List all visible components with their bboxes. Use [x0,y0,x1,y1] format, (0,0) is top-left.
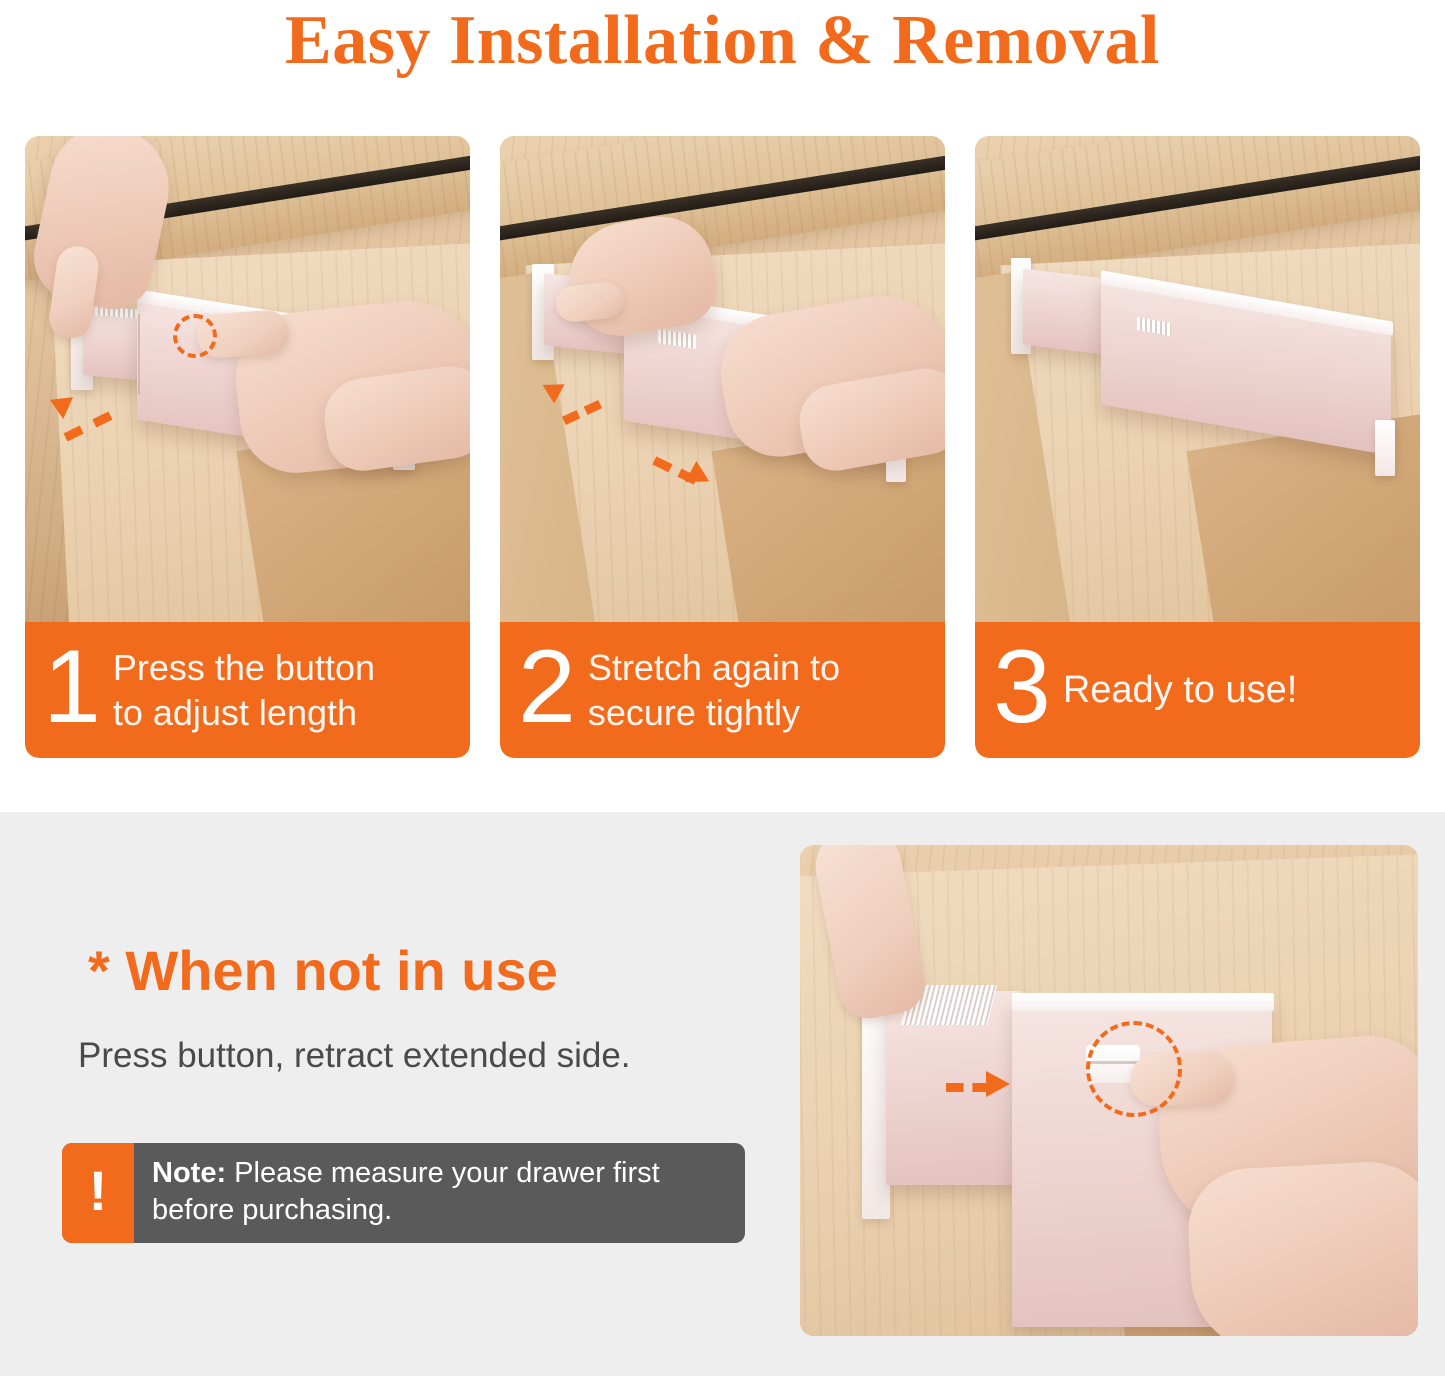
page-title: Easy Installation & Removal [0,2,1445,80]
step-label-1: Press the button to adjust length [113,645,375,735]
dashed-circle-button-highlight [173,314,217,358]
step-card-3: 3 Ready to use! [975,136,1420,758]
retract-photo [800,845,1418,1336]
step-caption-1: 1 Press the button to adjust length [25,622,470,758]
step-photo-2 [500,136,945,622]
note-label: Note: [152,1157,226,1189]
step-card-2: 2 Stretch again to secure tightly [500,136,945,758]
step-number-2: 2 [518,635,574,739]
pink-divider-3 [975,136,1420,622]
steps-row: 1 Press the button to adjust length [25,136,1421,758]
step-label-2-line2: secure tightly [588,692,800,733]
step-photo-3 [975,136,1420,622]
step-number-3: 3 [993,635,1049,739]
divider-inner-rail [1023,268,1113,355]
exclamation-icon: ! [62,1143,134,1243]
dashed-arrow-right-line [946,1083,990,1092]
top-section: Easy Installation & Removal [0,0,1445,812]
divider-seam [138,314,140,394]
when-not-in-use-subtitle: Press button, retract extended side. [78,1034,631,1078]
step-label-3: Ready to use! [1063,668,1297,713]
when-not-in-use-heading: * When not in use [88,940,558,1002]
step-label-2: Stretch again to secure tightly [588,645,840,735]
note-body: Please measure your drawer first before … [152,1157,660,1226]
step-caption-2: 2 Stretch again to secure tightly [500,622,945,758]
step-label-1-line1: Press the button [113,647,375,688]
step-label-2-line1: Stretch again to [588,647,840,688]
hand-right-knuckles [1185,1159,1418,1336]
step-photo-1 [25,136,470,622]
step-number-1: 1 [43,635,99,739]
step-label-1-line2: to adjust length [113,692,357,733]
step-caption-3: 3 Ready to use! [975,622,1420,758]
note-callout-box: ! Note: Please measure your drawer first… [62,1143,745,1243]
divider-top-edge [1012,993,1274,1011]
dashed-arrow-right-head [986,1071,1010,1097]
dashed-circle-button-highlight [1086,1021,1182,1117]
note-text: Note: Please measure your drawer first b… [134,1143,745,1243]
step-card-1: 1 Press the button to adjust length [25,136,470,758]
divider-far-end [1375,420,1395,476]
